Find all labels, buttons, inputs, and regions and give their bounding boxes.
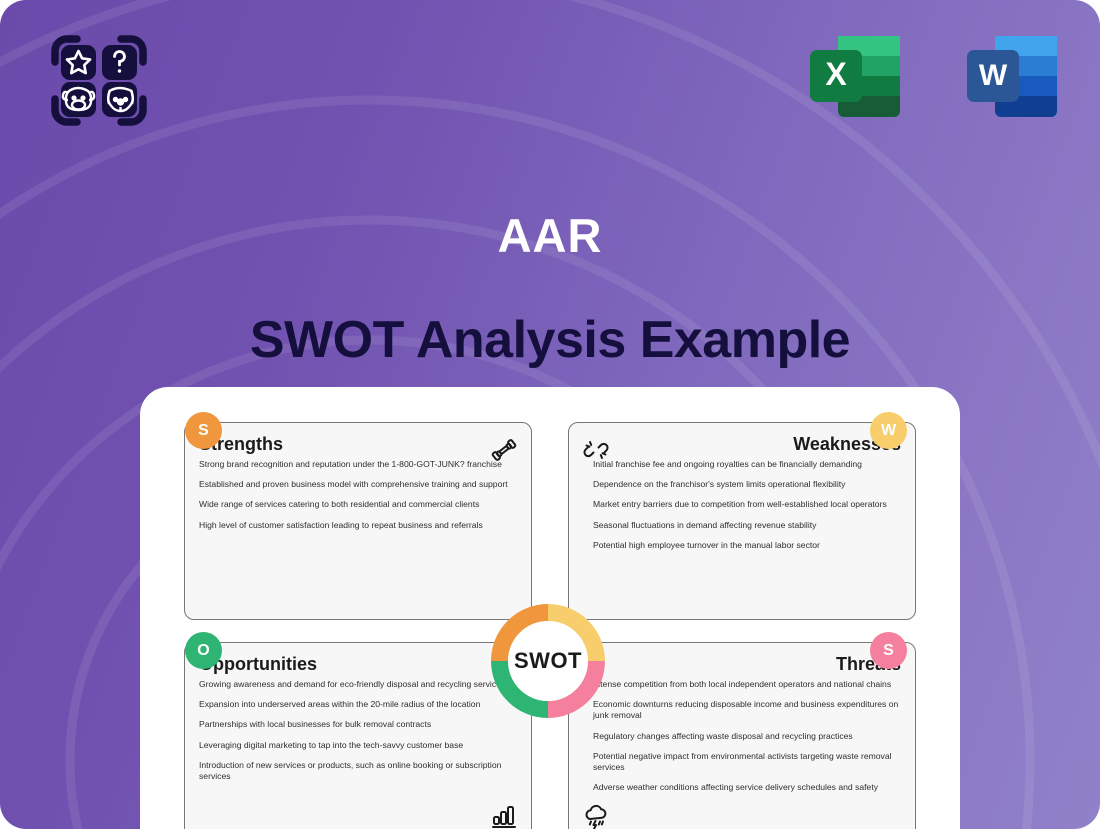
aar-logo[interactable] — [47, 31, 151, 130]
quadrant-list-strengths: Strong brand recognition and reputation … — [185, 455, 531, 531]
list-item: Market entry barriers due to competition… — [593, 499, 901, 510]
excel-icon[interactable]: X — [802, 24, 907, 129]
svg-text:W: W — [979, 59, 1008, 92]
list-item: Strong brand recognition and reputation … — [199, 459, 509, 470]
quadrant-opportunities[interactable]: Opportunities Growing awareness and dema… — [184, 642, 532, 829]
svg-text:X: X — [825, 56, 847, 92]
badge-weaknesses: W — [870, 412, 907, 449]
quadrant-list-opportunities: Growing awareness and demand for eco-fri… — [185, 675, 531, 782]
list-item: Initial franchise fee and ongoing royalt… — [593, 459, 901, 470]
storm-cloud-icon — [581, 801, 611, 829]
quadrant-weaknesses[interactable]: Weaknesses Initial franchise fee and ong… — [568, 422, 916, 620]
badge-strengths: S — [185, 412, 222, 449]
quadrant-list-weaknesses: Initial franchise fee and ongoing royalt… — [569, 455, 915, 551]
list-item: High level of customer satisfaction lead… — [199, 520, 509, 531]
quadrant-heading-threats: Threats — [569, 643, 915, 675]
swot-card: Strengths Strong brand recognition and r… — [140, 387, 960, 829]
swot-center-label: SWOT — [490, 603, 606, 719]
list-item: Leveraging digital marketing to tap into… — [199, 740, 509, 751]
broken-chain-icon — [581, 435, 611, 465]
swot-center-donut: SWOT — [490, 603, 606, 719]
list-item: Growing awareness and demand for eco-fri… — [199, 679, 509, 690]
quadrant-heading-weaknesses: Weaknesses — [569, 423, 915, 455]
page-title: SWOT Analysis Example — [0, 310, 1100, 370]
quadrant-strengths[interactable]: Strengths Strong brand recognition and r… — [184, 422, 532, 620]
list-item: Dependence on the franchisor's system li… — [593, 479, 901, 490]
brand-title: AAR — [0, 208, 1100, 263]
word-icon[interactable]: W — [959, 24, 1064, 129]
badge-threats: S — [870, 632, 907, 669]
list-item: Wide range of services catering to both … — [199, 499, 509, 510]
quadrant-heading-opportunities: Opportunities — [185, 643, 531, 675]
list-item: Economic downturns reducing disposable i… — [593, 699, 901, 721]
list-item: Adverse weather conditions affecting ser… — [593, 782, 901, 793]
list-item: Partnerships with local businesses for b… — [199, 719, 509, 730]
list-item: Established and proven business model wi… — [199, 479, 509, 490]
slide-page: X W AAR SWOT Analysis Example Strengths — [0, 0, 1100, 829]
dumbbell-icon — [489, 435, 519, 465]
list-item: Potential negative impact from environme… — [593, 751, 901, 773]
office-app-icons: X W — [802, 24, 1064, 129]
list-item: Expansion into underserved areas within … — [199, 699, 509, 710]
quadrant-threats[interactable]: Threats Intense competition from both lo… — [568, 642, 916, 829]
list-item: Potential high employee turnover in the … — [593, 540, 901, 551]
quadrant-list-threats: Intense competition from both local inde… — [569, 675, 915, 793]
quadrant-heading-strengths: Strengths — [185, 423, 531, 455]
list-item: Introduction of new services or products… — [199, 760, 509, 782]
list-item: Seasonal fluctuations in demand affectin… — [593, 520, 901, 531]
badge-opportunities: O — [185, 632, 222, 669]
bar-chart-icon — [489, 801, 519, 829]
list-item: Regulatory changes affecting waste dispo… — [593, 731, 901, 742]
list-item: Intense competition from both local inde… — [593, 679, 901, 690]
